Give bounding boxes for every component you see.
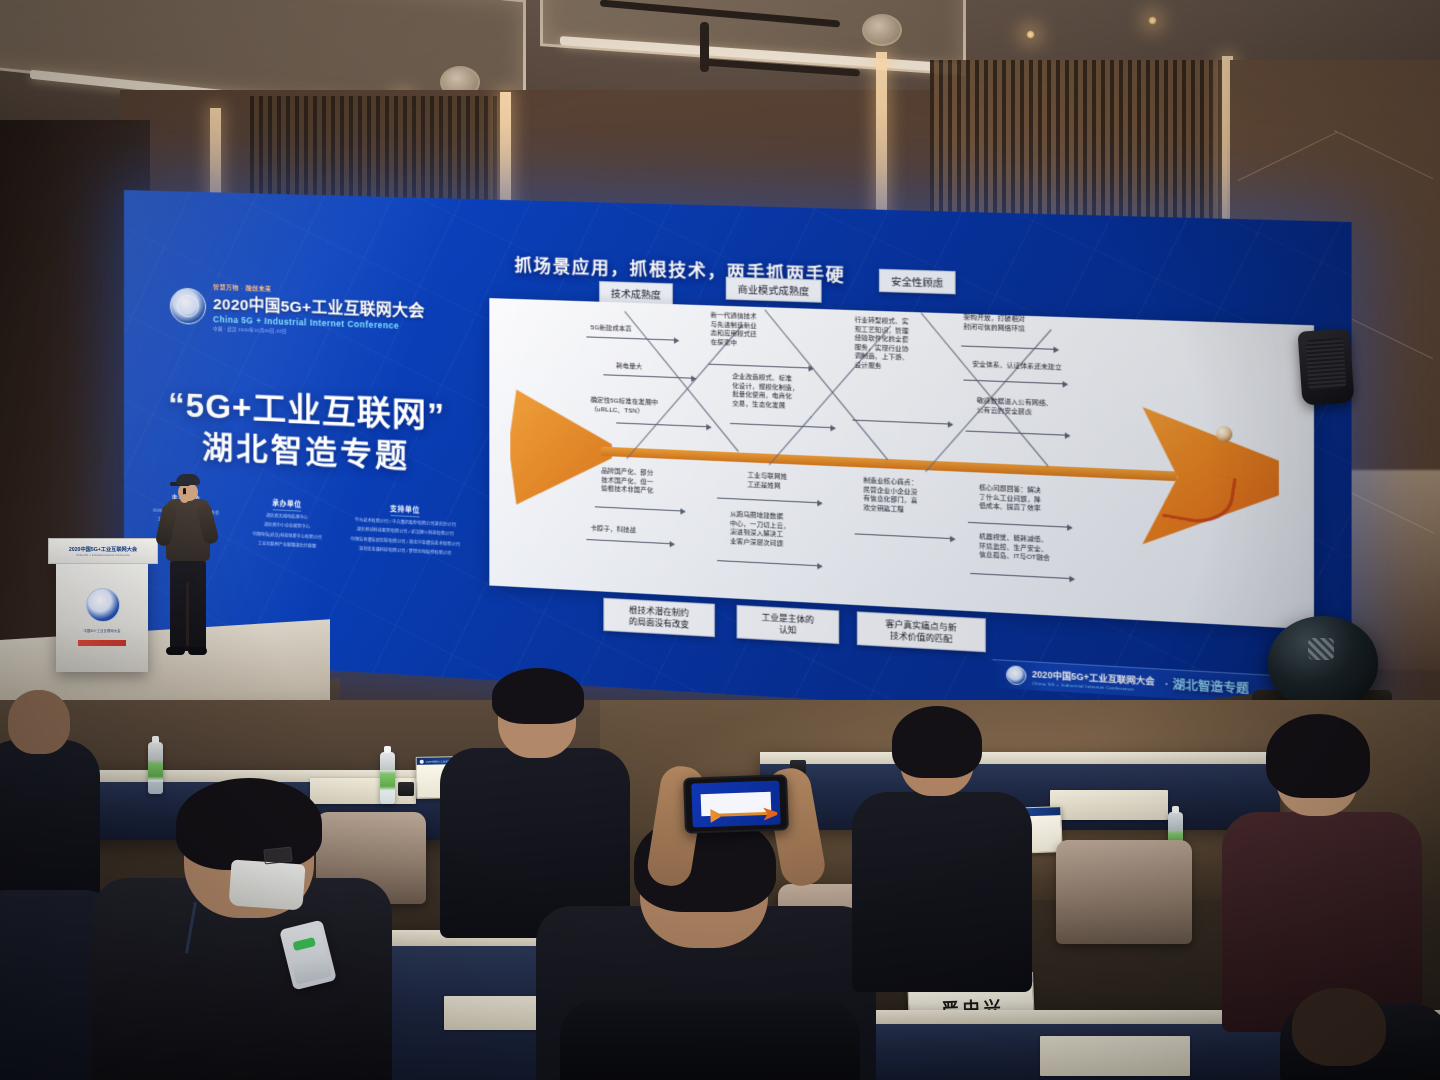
conference-seal-icon xyxy=(170,288,206,325)
organizer-title: 支持单位 xyxy=(390,503,420,518)
phone-fish-spine xyxy=(715,812,773,817)
dome-camera xyxy=(1268,616,1378,708)
podium-sign-en: China 5G + Industrial Internet Conferenc… xyxy=(76,553,130,557)
note-business-2: 企业改造模式、标准 化设计，规模化制造， 批量化使用，电商化 交易，生态化发展 xyxy=(732,373,837,413)
bone-core-2 xyxy=(970,573,1074,579)
phone-screen xyxy=(284,925,332,984)
attendee-foreground-right xyxy=(1280,1004,1440,1080)
downlight-3 xyxy=(1026,30,1035,39)
phone-screen-preview xyxy=(691,780,780,827)
note-transform-1: 行业转型模式、实 现工艺知识，管理 经验软件化的全套 服务，实现行业协 调制造，… xyxy=(855,316,948,373)
organizer-line: 湖北省无线电监测中心 xyxy=(266,513,308,521)
category-header-security: 安全性顾虑 xyxy=(879,269,956,295)
bone-business-2 xyxy=(730,423,835,428)
conclusion-box-1: 根技术潜在制约 的局面没有改变 xyxy=(603,598,715,637)
attendee-head xyxy=(8,690,70,754)
attendee-body xyxy=(560,1000,860,1080)
organizer-block-coorg: 承办单位 湖北省无线电监测中心 湖北省中小企业服务中心 中国电信(武汉)科技创新… xyxy=(234,495,340,551)
conclusion-box-3: 客户真实痛点与新 技术价值的匹配 xyxy=(857,611,986,652)
speaker-shoe-left xyxy=(166,647,185,655)
attendee-hair xyxy=(176,778,322,870)
note-core-2: 机器视觉、能耗减低、 环境监控、生产安全、 信息孤岛、IT与OT融合 xyxy=(979,533,1133,568)
fish-eye xyxy=(1216,426,1232,443)
bone-industry-2 xyxy=(717,560,822,566)
note-localization-2: 卡脖子，科技战 xyxy=(591,525,677,538)
speaker-presenter xyxy=(160,474,214,659)
note-tech-1: 5G新建成本高 xyxy=(591,324,685,336)
category-header-business: 商业模式成熟度 xyxy=(726,277,822,303)
attendee-foreground-center xyxy=(560,1000,860,1080)
speaker-shoe-right xyxy=(188,647,207,655)
wall-speaker xyxy=(1297,328,1354,405)
conference-logo: 智慧万物 · 融创未来 2020中国5G+工业互联网大会 China 5G + … xyxy=(170,279,448,341)
recording-smartphone[interactable] xyxy=(683,774,789,834)
bone-tech-1 xyxy=(586,336,678,340)
chat-bubble xyxy=(292,937,316,951)
conference-photo: 智慧万物 · 融创未来 2020中国5G+工业互联网大会 China 5G + … xyxy=(0,0,1440,1080)
note-localization-1: 品牌国产化、部分 技术国产化，但一 些根技术非国产化 xyxy=(601,467,702,498)
notepad-back-2 xyxy=(1050,790,1168,820)
podium-sign-cn: 2020中国5G+工业互联网大会 xyxy=(69,546,137,553)
bone-localization-1 xyxy=(595,506,685,511)
face-mask xyxy=(228,859,305,910)
cup-1 xyxy=(398,782,414,796)
podium-sign: 2020中国5G+工业互联网大会 China 5G + Industrial I… xyxy=(48,538,158,564)
bone-tech-3 xyxy=(616,422,710,427)
attendee-masked-phone xyxy=(92,790,392,1080)
organizer-line: 深圳市金晟科技有限公司 / 梦想光电股份有限公司 xyxy=(359,546,452,557)
attendee-far-right xyxy=(1222,726,1422,1016)
speaker-leg-gap xyxy=(186,582,189,646)
organizer-line: 湖北省中小企业服务中心 xyxy=(264,522,310,531)
speaker-hand xyxy=(180,494,189,503)
organizer-line: 工业互联网产业联盟湖北分联盟 xyxy=(258,541,316,550)
bone-transform-1 xyxy=(852,420,952,425)
note-security-2: 安全体系、认证体系还未建立 xyxy=(972,361,1144,376)
presentation-slide: 抓场景应用，抓根技术，两手抓两手硬 技术成熟度 商业模式成熟度 安全性顾虑 xyxy=(483,228,1326,697)
podium: 2020中国5G+工业互联网大会 China 5G + Industrial I… xyxy=(56,552,148,672)
bone-localization-2 xyxy=(586,539,674,544)
organizer-block-support: 支持单位 华为技术有限公司 / 中兴通讯股份有限公司湖北分公司 湖北移动科技服务… xyxy=(340,500,470,558)
attendee-head xyxy=(1292,988,1386,1066)
note-industry-1: 工业与联网姓 工还是姓网 xyxy=(747,472,841,494)
footer-seal-icon xyxy=(1006,665,1026,685)
note-security-1: 架构开放，打破相对 封闭可信的网络环境 xyxy=(963,314,1085,336)
bone-business-1 xyxy=(708,364,812,369)
eyeglasses-icon xyxy=(263,847,292,865)
podium-emblem-caption: 中国5G+工业互联网大会 xyxy=(72,628,132,633)
podium-accent-bar xyxy=(78,640,126,646)
bone-painpoint-1 xyxy=(855,533,955,539)
phone-slide-mirror xyxy=(701,792,772,816)
bone-core-1 xyxy=(968,522,1072,528)
note-core-1: 核心问题回答：解决 了什么工业问题，降 低成本、提高了效率 xyxy=(979,484,1106,517)
chair-2 xyxy=(1056,840,1192,944)
bone-industry-1 xyxy=(717,498,822,504)
conclusion-box-2: 工业是主体的 认知 xyxy=(737,605,840,644)
fishbone-diagram: 5G新建成本高 耗电量大 确定性5G标准在发展中 （uRLLC、TSN） 新一代… xyxy=(489,298,1314,629)
ceiling-disc-3 xyxy=(862,14,902,46)
notepad-front-2 xyxy=(1040,1036,1190,1076)
attendee-hair xyxy=(492,668,584,724)
downlight-4 xyxy=(1148,16,1157,25)
attendee-hair xyxy=(892,706,982,778)
note-business-1: 新一代通信技术 与先进制造新业 态和应用模式还 在探索中 xyxy=(711,312,794,350)
wall-chevron-2 xyxy=(1334,130,1433,179)
wall-chevron-1 xyxy=(1238,132,1337,181)
note-painpoint-1: 制造业核心痛点： 民营企业小企业没 有信息化部门，喜 欢交钥匙工程 xyxy=(863,477,970,518)
speaker-grill xyxy=(1305,338,1346,391)
speaker-cap xyxy=(176,474,200,485)
attendee-body xyxy=(852,792,1032,992)
note-tech-3: 确定性5G标准在发展中 （uRLLC、TSN） xyxy=(591,397,709,419)
bone-tech-2 xyxy=(603,374,695,379)
footer-topic: · 湖北智造专题 xyxy=(1165,675,1249,697)
water-bottle-1 xyxy=(148,742,163,794)
camera-lens-icon xyxy=(1308,638,1334,660)
attendee-blazer-right xyxy=(852,716,1032,976)
note-tech-2: 耗电量大 xyxy=(616,362,687,373)
nameplate-seal-icon xyxy=(420,759,424,763)
podium-emblem-icon xyxy=(86,588,120,622)
organizer-line: 中国电信(武汉)科技创新中心有限公司 xyxy=(252,531,321,541)
attendee-hair xyxy=(1266,714,1370,798)
organizer-title: 承办单位 xyxy=(272,497,301,512)
bone-security-1 xyxy=(961,345,1058,349)
note-industry-2: 从跑马圈地建数据 中心，一刀切上云， 演进到深入解决工 业客户深层次问题 xyxy=(730,511,833,552)
note-security-3: 敏感数据进入公有网络、 公有云的安全顾虑 xyxy=(977,397,1131,421)
